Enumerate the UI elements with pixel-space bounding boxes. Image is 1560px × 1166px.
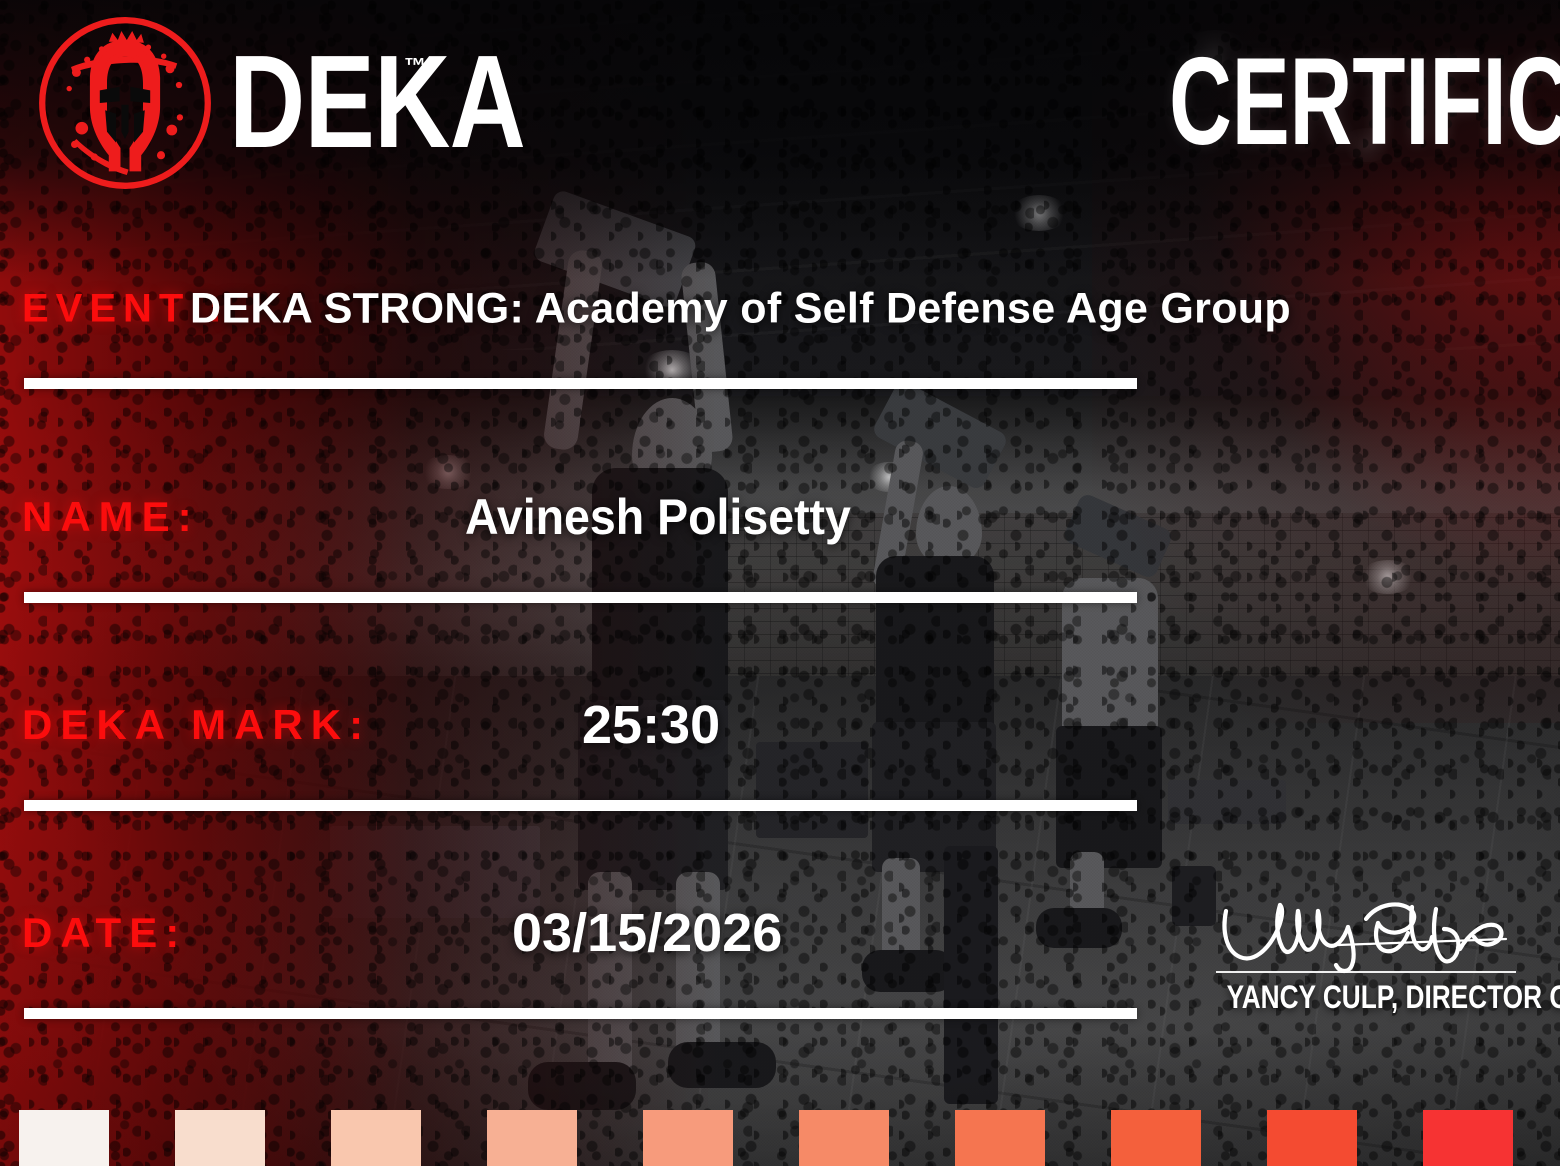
signature-name: YANCY CULP, DIRECTOR OF SPORT	[1227, 979, 1506, 1016]
swatch-cell	[1092, 1110, 1248, 1166]
brand-text: DEKA	[229, 47, 525, 158]
field-row-name: NAME: Avinesh Polisetty	[0, 413, 1560, 621]
date-value: 03/15/2026	[512, 902, 782, 964]
swatch	[487, 1110, 577, 1166]
name-value: Avinesh Polisetty	[465, 488, 851, 546]
certificate-header: DEKA ™ CERTIFICATE OF COMPLETION	[0, 0, 1560, 205]
swatch	[1111, 1110, 1201, 1166]
color-swatch-bar	[0, 1110, 1560, 1166]
swatch-cell	[780, 1110, 936, 1166]
handwritten-signature-icon	[1216, 895, 1516, 975]
swatch-cell	[1404, 1110, 1560, 1166]
swatch	[643, 1110, 733, 1166]
swatch-cell	[156, 1110, 312, 1166]
name-label: NAME:	[22, 493, 200, 541]
deka-mark-value: 25:30	[582, 694, 720, 756]
brand-wordmark: DEKA ™	[229, 47, 599, 158]
swatch	[1423, 1110, 1513, 1166]
field-divider	[24, 800, 1137, 811]
swatch-cell	[936, 1110, 1092, 1166]
swatch	[799, 1110, 889, 1166]
trademark-icon: ™	[404, 53, 426, 79]
field-divider	[24, 1008, 1137, 1019]
signature-line	[1216, 971, 1516, 973]
swatch	[331, 1110, 421, 1166]
swatch-cell	[624, 1110, 780, 1166]
swatch	[175, 1110, 265, 1166]
swatch	[955, 1110, 1045, 1166]
spartan-helmet-icon	[35, 13, 215, 193]
swatch-cell	[0, 1110, 156, 1166]
swatch	[19, 1110, 109, 1166]
swatch-cell	[1248, 1110, 1404, 1166]
deka-mark-label: DEKA MARK:	[22, 701, 371, 749]
swatch-cell	[312, 1110, 468, 1166]
swatch-cell	[468, 1110, 624, 1166]
date-label: DATE:	[22, 909, 187, 957]
event-value: DEKA STRONG: Academy of Self Defense Age…	[190, 285, 1291, 334]
field-divider	[24, 592, 1137, 603]
swatch	[1267, 1110, 1357, 1166]
signature-block: YANCY CULP, DIRECTOR OF SPORT	[1196, 895, 1536, 1016]
deka-certificate: DEKA ™ CERTIFICATE OF COMPLETION EVENT :…	[0, 0, 1560, 1166]
field-divider	[24, 378, 1137, 389]
page-title: CERTIFICATE OF COMPLETION	[1169, 49, 1560, 156]
field-row-deka-mark: DEKA MARK: 25:30	[0, 621, 1560, 829]
field-row-event: EVENT : DEKA STRONG: Academy of Self Def…	[0, 205, 1560, 413]
